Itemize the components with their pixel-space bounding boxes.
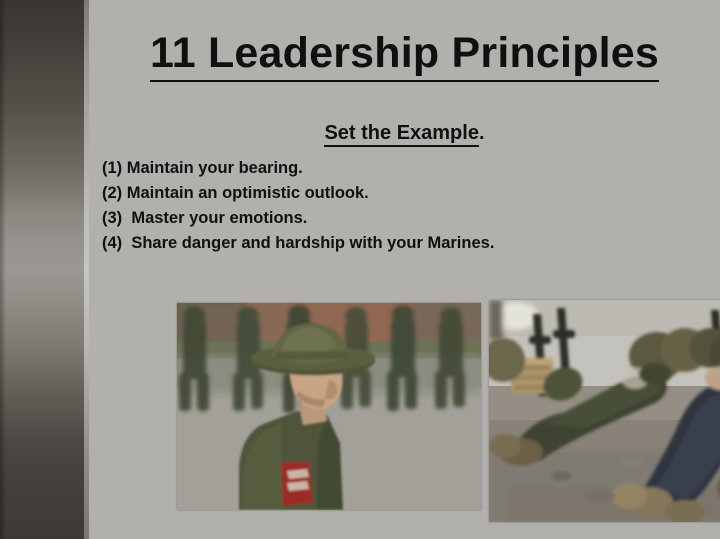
slide-title-text: 11 Leadership Principles [150,29,659,82]
marines-resting-photo [489,300,720,522]
principle-item: (2) Maintain an optimistic outlook. [102,181,702,206]
slide-title: 11 Leadership Principles [89,30,720,76]
drill-instructor-photo-graphic [177,303,481,510]
slide-content-area: 11 Leadership Principles Set the Example… [89,0,720,539]
principle-item: (4) Share danger and hardship with your … [102,231,702,256]
drill-instructor-photo [177,303,481,510]
principle-item: (3) Master your emotions. [102,206,702,231]
marines-resting-photo-graphic [489,300,720,522]
slide-sidebar-gradient [0,0,84,539]
principle-item: (1) Maintain your bearing. [102,156,702,181]
presentation-slide: 11 Leadership Principles Set the Example… [0,0,720,539]
slide-subtitle-text: Set the Example [324,122,479,147]
slide-subtitle: Set the Example. [89,122,720,145]
sidebar-inner-shadow [0,0,6,539]
slide-subtitle-period: . [479,122,485,144]
principles-list: (1) Maintain your bearing. (2) Maintain … [102,156,702,256]
